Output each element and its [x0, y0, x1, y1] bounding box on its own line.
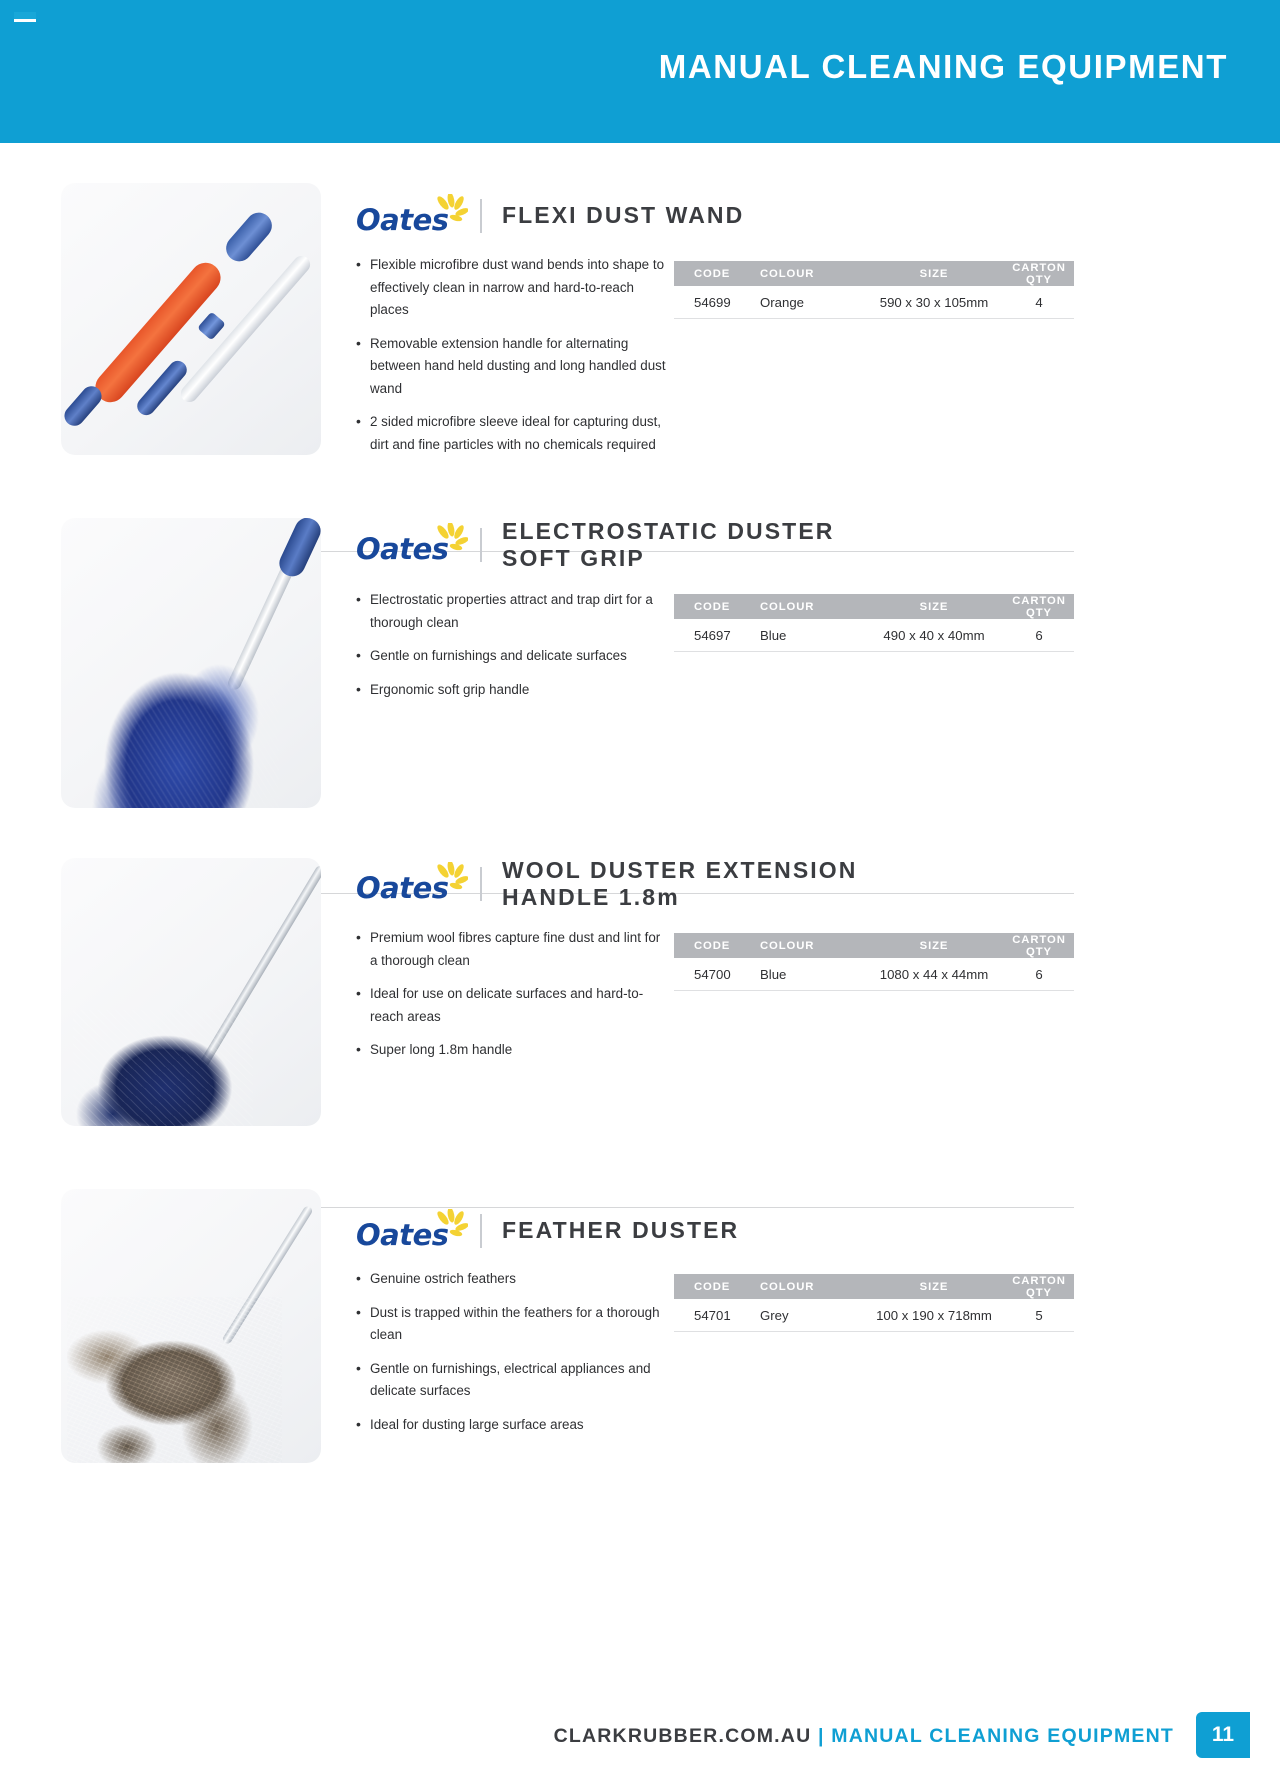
- column-header-qty: CARTON QTY: [1004, 262, 1074, 286]
- list-item: Dust is trapped within the feathers for …: [356, 1302, 668, 1347]
- cell-qty: 6: [1004, 967, 1074, 982]
- duster-fibre-head-shape: [79, 656, 279, 808]
- column-header-size: SIZE: [864, 1281, 1004, 1293]
- cell-code: 54699: [674, 295, 760, 310]
- list-item: Premium wool fibres capture fine dust an…: [356, 927, 668, 972]
- column-header-qty: CARTON QTY: [1004, 595, 1074, 619]
- list-item: 2 sided microfibre sleeve ideal for capt…: [356, 411, 668, 456]
- column-header-qty: CARTON QTY: [1004, 934, 1074, 958]
- footer-section: MANUAL CLEANING EQUIPMENT: [831, 1725, 1174, 1747]
- footer-site: CLARKRUBBER.COM.AU: [554, 1725, 812, 1747]
- column-header-size: SIZE: [864, 268, 1004, 280]
- cell-qty: 4: [1004, 295, 1074, 310]
- list-item: Ergonomic soft grip handle: [356, 679, 668, 702]
- page-number-badge: 11: [1196, 1712, 1250, 1758]
- column-header-size: SIZE: [864, 940, 1004, 952]
- column-header-colour: COLOUR: [760, 1281, 864, 1293]
- oates-sunburst-icon: [434, 1209, 468, 1239]
- cell-qty: 5: [1004, 1308, 1074, 1323]
- table-row: 54697 Blue 490 x 40 x 40mm 6: [674, 619, 1074, 652]
- list-item: Flexible microfibre dust wand bends into…: [356, 254, 668, 322]
- column-header-colour: COLOUR: [760, 601, 864, 613]
- spec-table-header: CODE COLOUR SIZE CARTON QTY: [674, 933, 1074, 958]
- column-header-colour: COLOUR: [760, 268, 864, 280]
- column-header-code: CODE: [674, 940, 760, 952]
- cell-code: 54697: [674, 628, 760, 643]
- title-divider: [480, 199, 482, 233]
- title-divider: [480, 528, 482, 562]
- cell-size: 490 x 40 x 40mm: [864, 628, 1004, 643]
- pole-joint-shape: [197, 311, 226, 340]
- product-title-row: Oates FEATHER DUSTER: [356, 1211, 739, 1251]
- feature-list: Flexible microfibre dust wand bends into…: [356, 254, 668, 467]
- table-row: 54701 Grey 100 x 190 x 718mm 5: [674, 1299, 1074, 1332]
- title-divider: [480, 1214, 482, 1248]
- ostrich-feather-head-shape: [67, 1297, 282, 1463]
- product-title-row: Oates WOOL DUSTER EXTENSION HANDLE 1.8m: [356, 857, 857, 911]
- spec-table-header: CODE COLOUR SIZE CARTON QTY: [674, 1274, 1074, 1299]
- list-item: Ideal for dusting large surface areas: [356, 1414, 668, 1437]
- spec-table-header: CODE COLOUR SIZE CARTON QTY: [674, 261, 1074, 286]
- oates-sunburst-icon: [434, 523, 468, 553]
- cell-colour: Blue: [760, 967, 864, 982]
- wand-tip-shape: [221, 207, 277, 266]
- table-row: 54700 Blue 1080 x 44 x 44mm 6: [674, 958, 1074, 991]
- list-item: Gentle on furnishings and delicate surfa…: [356, 645, 668, 668]
- cell-size: 590 x 30 x 105mm: [864, 295, 1004, 310]
- column-header-code: CODE: [674, 601, 760, 613]
- flexi-dust-wand-photo: [61, 183, 321, 455]
- column-header-qty: CARTON QTY: [1004, 1275, 1074, 1299]
- list-item: Electrostatic properties attract and tra…: [356, 589, 668, 634]
- oates-sunburst-icon: [434, 194, 468, 224]
- spec-table: CODE COLOUR SIZE CARTON QTY 54699 Orange…: [674, 261, 1074, 319]
- feather-duster-photo: [61, 1189, 321, 1463]
- list-item: Super long 1.8m handle: [356, 1039, 668, 1062]
- wool-duster-extension-handle-photo: [61, 858, 321, 1126]
- oates-logo: Oates: [356, 196, 464, 236]
- page-header-banner: MANUAL CLEANING EQUIPMENT: [0, 0, 1280, 143]
- spec-table-header: CODE COLOUR SIZE CARTON QTY: [674, 594, 1074, 619]
- spec-table: CODE COLOUR SIZE CARTON QTY 54697 Blue 4…: [674, 594, 1074, 652]
- product-name: ELECTROSTATIC DUSTER SOFT GRIP: [502, 518, 834, 572]
- product-title-row: Oates FLEXI DUST WAND: [356, 196, 744, 236]
- list-item: Removable extension handle for alternati…: [356, 333, 668, 401]
- product-name: FLEXI DUST WAND: [502, 202, 744, 229]
- cell-size: 100 x 190 x 718mm: [864, 1308, 1004, 1323]
- feature-list: Genuine ostrich feathers Dust is trapped…: [356, 1268, 668, 1447]
- oates-logo: Oates: [356, 1211, 464, 1251]
- product-name: WOOL DUSTER EXTENSION HANDLE 1.8m: [502, 857, 857, 911]
- page-corner-tab: [14, 12, 36, 22]
- column-header-code: CODE: [674, 1281, 760, 1293]
- oates-logo: Oates: [356, 864, 464, 904]
- oates-logo: Oates: [356, 525, 464, 565]
- feature-list: Electrostatic properties attract and tra…: [356, 589, 668, 712]
- spec-table: CODE COLOUR SIZE CARTON QTY 54700 Blue 1…: [674, 933, 1074, 991]
- title-divider: [480, 867, 482, 901]
- list-item: Genuine ostrich feathers: [356, 1268, 668, 1291]
- cell-colour: Grey: [760, 1308, 864, 1323]
- cell-colour: Orange: [760, 295, 864, 310]
- cell-code: 54701: [674, 1308, 760, 1323]
- page-title: MANUAL CLEANING EQUIPMENT: [659, 48, 1228, 86]
- product-name: FEATHER DUSTER: [502, 1217, 739, 1244]
- cell-colour: Blue: [760, 628, 864, 643]
- spec-table: CODE COLOUR SIZE CARTON QTY 54701 Grey 1…: [674, 1274, 1074, 1332]
- electrostatic-duster-soft-grip-photo: [61, 518, 321, 808]
- cell-size: 1080 x 44 x 44mm: [864, 967, 1004, 982]
- footer-separator: |: [818, 1725, 825, 1747]
- list-item: Gentle on furnishings, electrical applia…: [356, 1358, 668, 1403]
- list-item: Ideal for use on delicate surfaces and h…: [356, 983, 668, 1028]
- table-row: 54699 Orange 590 x 30 x 105mm 4: [674, 286, 1074, 319]
- duster-soft-grip-shape: [275, 518, 321, 581]
- feature-list: Premium wool fibres capture fine dust an…: [356, 927, 668, 1073]
- catalog-page: MANUAL CLEANING EQUIPMENT Oates: [0, 0, 1280, 1782]
- oates-sunburst-icon: [434, 862, 468, 892]
- wand-grip-shape: [61, 382, 106, 430]
- cell-code: 54700: [674, 967, 760, 982]
- column-header-colour: COLOUR: [760, 940, 864, 952]
- product-title-row: Oates ELECTROSTATIC DUSTER SOFT GRIP: [356, 518, 834, 572]
- column-header-size: SIZE: [864, 601, 1004, 613]
- cell-qty: 6: [1004, 628, 1074, 643]
- column-header-code: CODE: [674, 268, 760, 280]
- footer-breadcrumb: CLARKRUBBER.COM.AU | MANUAL CLEANING EQU…: [554, 1725, 1174, 1748]
- wool-duster-head-shape: [73, 1010, 253, 1126]
